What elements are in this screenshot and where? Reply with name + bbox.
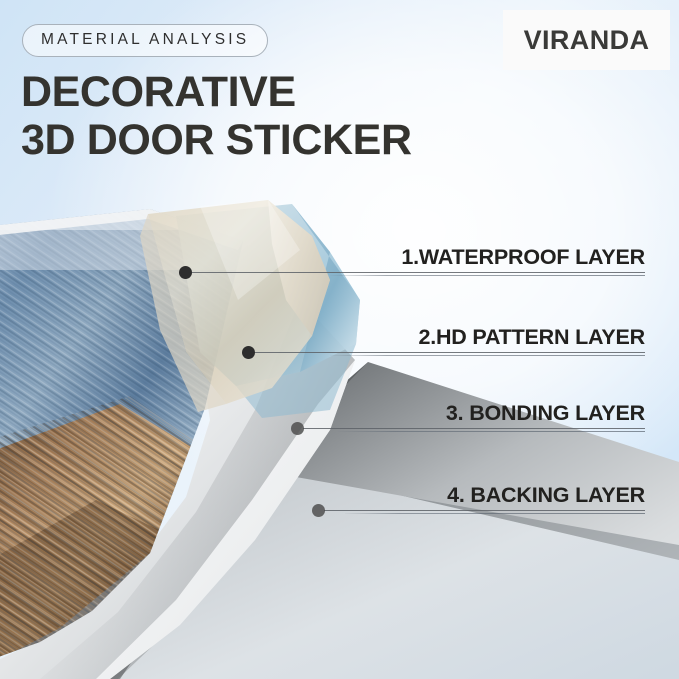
- callout-backing: 4. BACKING LAYER: [345, 476, 645, 514]
- callout-rule-4: [345, 513, 645, 514]
- callout-hd-pattern: 2.HD PATTERN LAYER: [330, 318, 645, 356]
- callout-bonding: 3. BONDING LAYER: [338, 394, 645, 432]
- callout-dot-1: [179, 266, 192, 279]
- leader-line-4: [324, 510, 645, 511]
- callout-dot-4: [312, 504, 325, 517]
- brand-logo: VIRANDA: [503, 10, 670, 70]
- callout-label-1: 1.WATERPROOF LAYER: [401, 245, 645, 270]
- brand-logo-text: VIRANDA: [524, 25, 650, 56]
- page-title-line2: 3D DOOR STICKER: [21, 116, 412, 164]
- leader-line-1: [191, 272, 645, 273]
- leader-line-2: [254, 352, 645, 353]
- callout-waterproof: 1.WATERPROOF LAYER: [330, 238, 645, 276]
- material-analysis-badge: MATERIAL ANALYSIS: [22, 24, 268, 57]
- page-title: DECORATIVE3D DOOR STICKER: [21, 68, 412, 164]
- callout-label-4: 4. BACKING LAYER: [447, 483, 645, 508]
- callout-label-3: 3. BONDING LAYER: [446, 401, 645, 426]
- poster-canvas: MATERIAL ANALYSIS DECORATIVE3D DOOR STIC…: [0, 0, 679, 679]
- leader-line-3: [303, 428, 645, 429]
- callout-dot-3: [291, 422, 304, 435]
- callout-rule-2: [330, 355, 645, 356]
- callout-label-2: 2.HD PATTERN LAYER: [418, 325, 645, 350]
- callout-rule-3: [338, 431, 645, 432]
- page-title-line1: DECORATIVE: [21, 68, 296, 116]
- callout-dot-2: [242, 346, 255, 359]
- callout-rule-1: [330, 275, 645, 276]
